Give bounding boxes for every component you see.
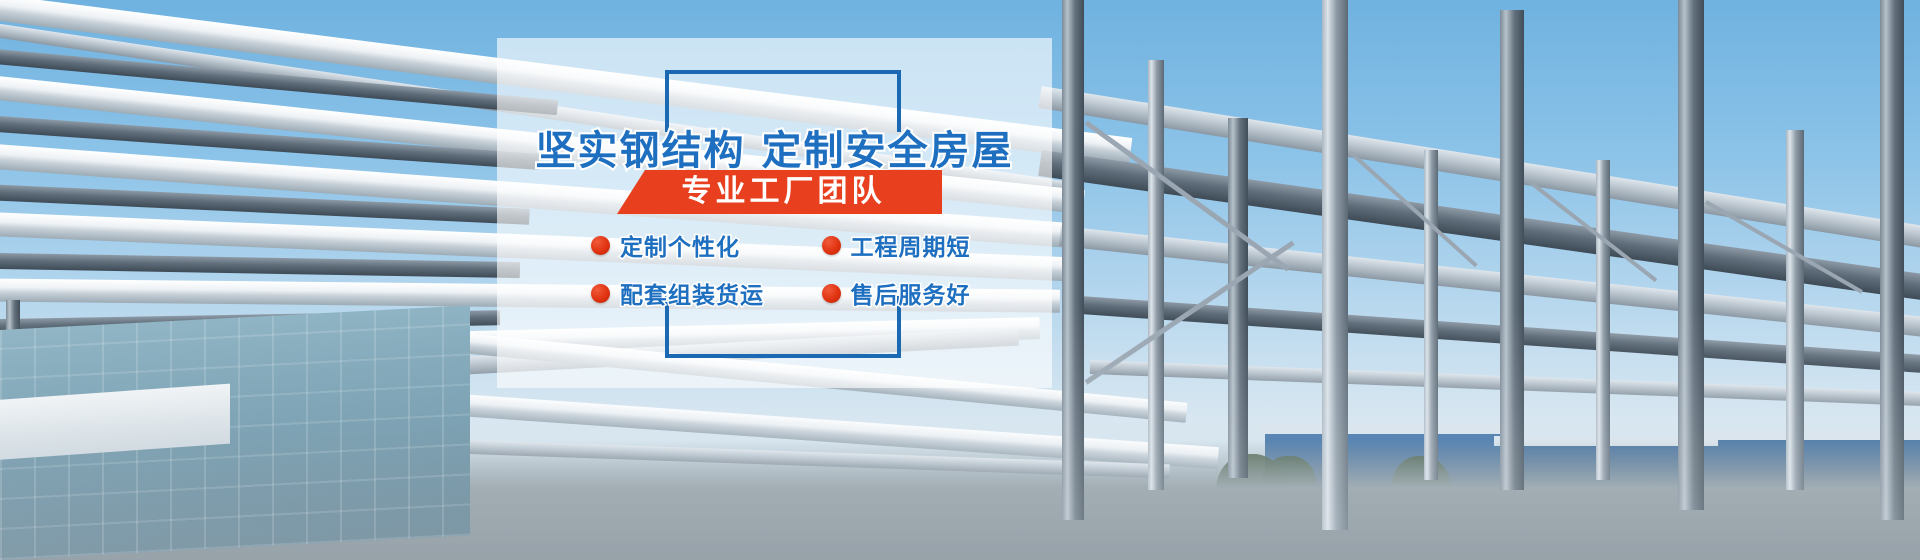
list-item: 配套组装货运 (591, 276, 822, 310)
bullet-dot-icon (591, 236, 610, 255)
bullet-dot-icon (822, 236, 841, 255)
feature-label: 工程周期短 (851, 228, 971, 262)
list-item: 定制个性化 (591, 228, 822, 262)
list-item: 工程周期短 (822, 228, 1053, 262)
bullet-dot-icon (591, 284, 610, 303)
feature-list: 定制个性化 工程周期短 配套组装货运 售后服务好 (497, 228, 1052, 310)
feature-label: 售后服务好 (851, 276, 971, 310)
hero-banner: 坚实钢结构 定制安全房屋 专业工厂团队 定制个性化 工程周期短 配套组装货运 售… (0, 0, 1920, 560)
page-title: 坚实钢结构 定制安全房屋 (497, 118, 1052, 176)
headline-text: 坚实钢结构 定制安全房屋 (536, 128, 1014, 174)
bullet-dot-icon (822, 284, 841, 303)
feature-label: 配套组装货运 (620, 276, 764, 310)
ribbon-badge: 专业工厂团队 (617, 170, 942, 214)
feature-label: 定制个性化 (620, 228, 740, 262)
list-item: 售后服务好 (822, 276, 1053, 310)
ribbon-label: 专业工厂团队 (674, 177, 886, 207)
